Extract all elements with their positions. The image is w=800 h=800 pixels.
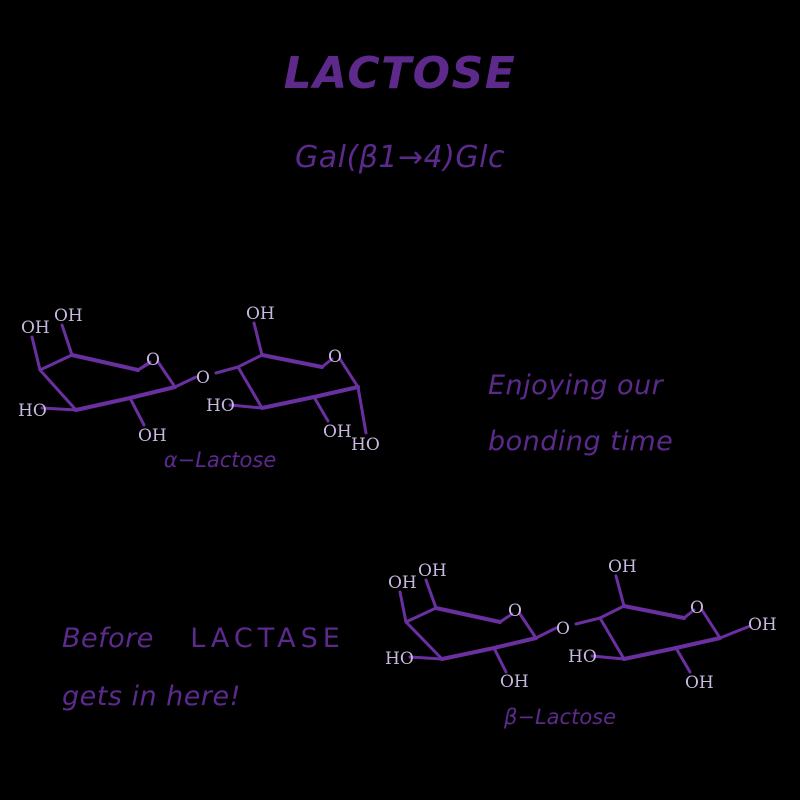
bond-c1-glyco-o [175,377,196,387]
glucose-bond-c2-oh [314,397,328,421]
alpha-galactose-ring: OH OH O HO OH [18,306,175,446]
glucose-bond-c2-c3 [262,397,314,408]
atom-label-ho: HO [568,647,597,667]
page-title: LACTOSE [0,48,800,99]
atom-label-o: O [146,350,160,370]
atom-label-ho: HO [351,435,380,455]
atom-label-oh: OH [500,672,529,692]
galactose-bond-c4-oh [32,337,40,370]
atom-label-oh: OH [54,306,83,326]
atom-label-oh: OH [21,318,50,338]
atom-label-oh: OH [246,304,275,324]
galactose-bond-c2-c3 [76,398,130,410]
atom-label-oh: OH [418,561,447,581]
caption-right-line1: Enjoying our [488,358,673,414]
atom-label-ho: HO [18,401,47,421]
glucose-bond-c3-c4 [238,367,262,408]
galactose-bond-c2-oh [494,648,506,672]
caption-before-lactase: Before LACTASE gets in here! [62,610,345,726]
atom-label-ho: HO [385,649,414,669]
glucose-bond-c2-c3 [624,648,676,659]
galactose-bond-c2-oh [130,398,144,425]
atom-label-o-glycosidic: O [556,619,570,639]
caption-left-line2: gets in here! [62,668,345,726]
galactose-bond-o-c1 [158,362,175,387]
subtitle-linkage-formula: Gal(β1→4)Glc [0,140,800,175]
glucose-bond-c3-ho [592,656,624,659]
glucose-bond-c1-c2 [314,387,358,397]
glucose-front-edge [624,606,684,618]
galactose-bond-o-c1 [520,614,536,638]
glucose-bond-c3-ho [230,405,262,408]
molecule-label-alpha-lactose: α−Lactose [100,448,340,472]
galactose-bond-c6-oh [62,325,72,355]
atom-label-oh: OH [323,422,352,442]
atom-label-oh: OH [138,426,167,446]
atom-label-oh: OH [388,573,417,593]
beta-galactose-ring: OH OH O HO OH [385,561,536,692]
glucose-bond-o-c1 [340,359,358,387]
galactose-bond-c3-ho [42,408,76,410]
galactose-bond-c3-ho [410,657,442,659]
caption-left-prefix: Before [62,623,154,654]
glucose-front-edge [262,355,322,367]
atom-label-o: O [690,598,704,618]
glucose-bond-c1-ho-axial [358,387,366,433]
bond-c1-glyco-o [536,628,556,638]
beta-lactose-structure: OH OH O HO OH O [378,552,778,712]
atom-label-oh: OH [748,615,777,635]
galactose-bond-c6-oh [426,580,436,608]
atom-label-o: O [328,347,342,367]
atom-label-o: O [508,601,522,621]
galactose-front-edge [436,608,500,622]
galactose-front-edge [72,355,138,370]
glucose-bond-c1-c2 [676,638,720,648]
bond-glyco-o-c4prime [216,367,238,373]
glucose-bond-c1-oh-equatorial [720,626,750,638]
beta-glucose-ring: OH O HO OH OH [568,557,777,693]
galactose-bond-c2-c3 [442,648,494,659]
molecule-beta-lactose: OH OH O HO OH O [378,552,778,712]
caption-bonding-time: Enjoying our bonding time [488,358,673,470]
glucose-bond-o-c1 [702,610,720,638]
caption-right-line2: bonding time [488,414,673,470]
atom-label-o-glycosidic: O [196,368,210,388]
beta-glycosidic-linkage: O [536,618,600,639]
bond-glyco-o-c4prime [576,618,600,624]
atom-label-oh: OH [608,557,637,577]
galactose-bond-c1-c2 [130,387,175,398]
galactose-bond-c1-c2 [494,638,536,648]
caption-left-line1: Before LACTASE [62,610,345,668]
glucose-bond-c2-oh [676,648,690,672]
molecule-label-beta-lactose: β−Lactose [430,705,690,729]
atom-label-oh: OH [685,673,714,693]
galactose-bond-c4-oh [400,592,406,622]
poster-canvas: LACTOSE Gal(β1→4)Glc O [0,0,800,800]
alpha-glucose-ring: OH O HO OH HO [206,304,380,455]
alpha-glycosidic-linkage: O [175,367,238,388]
glucose-bond-c6-oh [616,576,624,606]
glucose-bond-c6-oh [254,323,262,355]
glucose-bond-c3-c4 [600,618,624,659]
caption-left-emphasis-lactase: LACTASE [190,623,345,654]
atom-label-ho: HO [206,396,235,416]
